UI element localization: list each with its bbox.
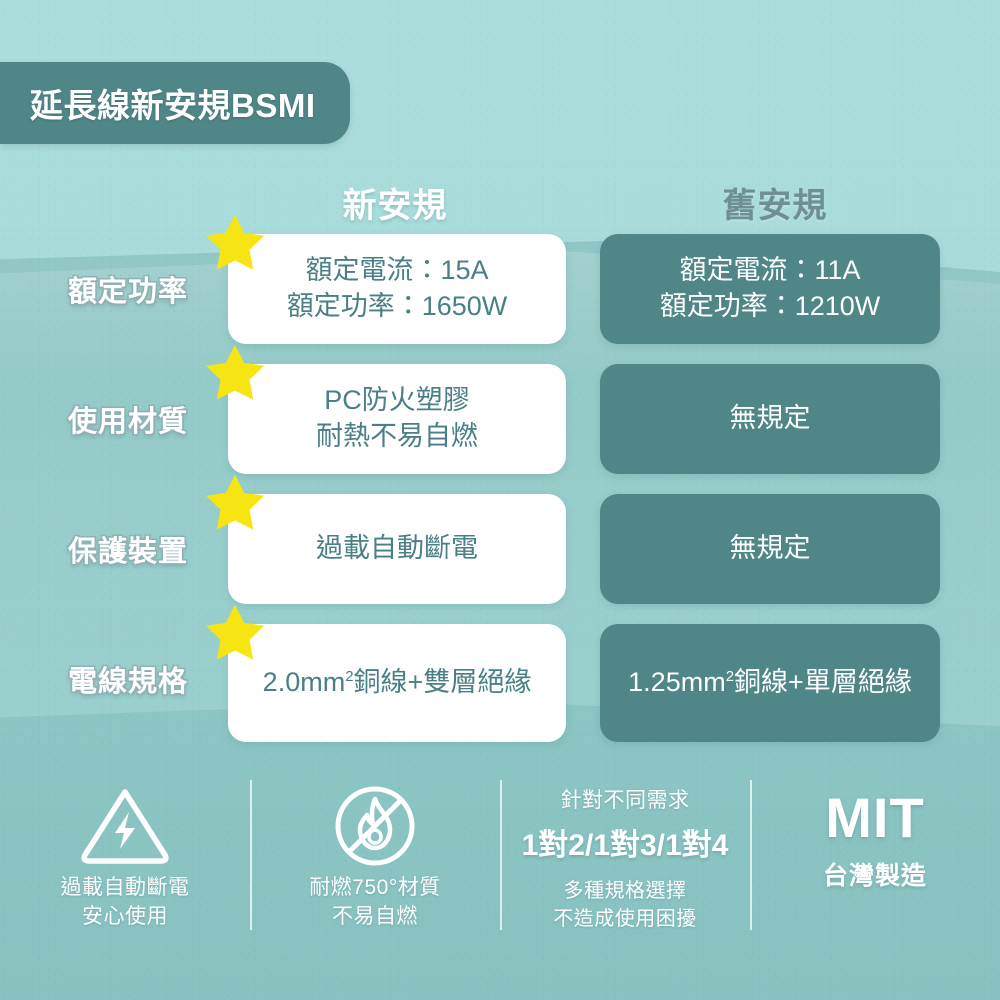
card-line: 額定電流：15A bbox=[305, 253, 488, 289]
table-row: 使用材質 PC防火塑膠 耐熱不易自燃 無規定 bbox=[0, 364, 1000, 474]
feature-line: 不造成使用困擾 bbox=[553, 906, 697, 934]
feature-socket-variants: 針對不同需求 1對2/1對3/1對4 多種規格選擇 不造成使用困擾 bbox=[500, 772, 750, 972]
card-old-spec: 額定電流：11A 額定功率：1210W bbox=[600, 234, 940, 344]
row-label-wire-spec: 電線規格 bbox=[38, 624, 218, 734]
table-row: 電線規格 2.0mm2銅線+雙層絕緣 1.25mm2銅線+單層絕緣 bbox=[0, 624, 1000, 734]
wire-size-value: 1.25mm bbox=[628, 667, 726, 697]
card-line: 1.25mm2銅線+單層絕緣 bbox=[628, 665, 912, 701]
mit-sublabel: 台灣製造 bbox=[823, 856, 927, 892]
wire-desc: 銅線+雙層絕緣 bbox=[354, 667, 532, 697]
card-line: 額定電流：11A bbox=[679, 253, 860, 289]
card-line: 2.0mm2銅線+雙層絕緣 bbox=[263, 665, 532, 701]
feature-made-in-taiwan: MIT 台灣製造 bbox=[750, 772, 1000, 972]
card-new-spec: 2.0mm2銅線+雙層絕緣 bbox=[228, 624, 566, 742]
mit-label: MIT bbox=[825, 790, 924, 846]
feature-heading: 針對不同需求 bbox=[561, 784, 690, 814]
feature-line: 過載自動斷電 bbox=[61, 874, 190, 903]
infographic-poster: 延長線新安規BSMI 新安規 舊安規 額定功率 額定電流：15A 額定功率：16… bbox=[0, 0, 1000, 1000]
row-label-material: 使用材質 bbox=[38, 364, 218, 474]
page-title: 延長線新安規BSMI bbox=[30, 79, 316, 127]
feature-variants-value: 1對2/1對3/1對4 bbox=[522, 820, 729, 864]
card-line: PC防火塑膠 bbox=[324, 383, 470, 419]
feature-line: 不易自燃 bbox=[332, 903, 418, 932]
feature-line: 多種規格選擇 bbox=[564, 878, 687, 906]
column-header-new-spec: 新安規 bbox=[230, 178, 560, 227]
card-old-spec: 1.25mm2銅線+單層絕緣 bbox=[600, 624, 940, 742]
row-label-rated-power: 額定功率 bbox=[38, 234, 218, 344]
card-new-spec: 額定電流：15A 額定功率：1650W bbox=[228, 234, 566, 344]
card-old-spec: 無規定 bbox=[600, 494, 940, 604]
card-line: 過載自動斷電 bbox=[316, 531, 478, 567]
feature-strip: 過載自動斷電 安心使用 耐燃750°材質 不易自燃 針對不同需求 1對2/1對3… bbox=[0, 772, 1000, 972]
card-line: 額定功率：1210W bbox=[660, 289, 881, 325]
card-line: 額定功率：1650W bbox=[287, 289, 508, 325]
card-old-spec: 無規定 bbox=[600, 364, 940, 474]
warning-triangle-bolt-icon bbox=[79, 778, 171, 874]
card-line: 耐熱不易自燃 bbox=[316, 419, 478, 455]
feature-line: 耐燃750°材質 bbox=[309, 874, 440, 903]
no-fire-icon bbox=[329, 778, 421, 874]
card-line: 無規定 bbox=[730, 401, 811, 437]
wire-desc: 銅線+單層絕緣 bbox=[734, 667, 912, 697]
title-badge: 延長線新安規BSMI bbox=[0, 62, 350, 144]
feature-flame-retardant: 耐燃750°材質 不易自燃 bbox=[250, 772, 500, 972]
card-new-spec: PC防火塑膠 耐熱不易自燃 bbox=[228, 364, 566, 474]
table-row: 額定功率 額定電流：15A 額定功率：1650W 額定電流：11A 額定功率：1… bbox=[0, 234, 1000, 344]
feature-overload-protection: 過載自動斷電 安心使用 bbox=[0, 772, 250, 972]
card-new-spec: 過載自動斷電 bbox=[228, 494, 566, 604]
card-line: 無規定 bbox=[730, 531, 811, 567]
wire-size-value: 2.0mm bbox=[263, 667, 346, 697]
superscript-two: 2 bbox=[726, 668, 734, 685]
feature-line: 安心使用 bbox=[82, 903, 168, 932]
row-label-protection: 保護裝置 bbox=[38, 494, 218, 604]
column-header-old-spec: 舊安規 bbox=[600, 178, 950, 227]
superscript-two: 2 bbox=[345, 668, 353, 685]
table-row: 保護裝置 過載自動斷電 無規定 bbox=[0, 494, 1000, 604]
